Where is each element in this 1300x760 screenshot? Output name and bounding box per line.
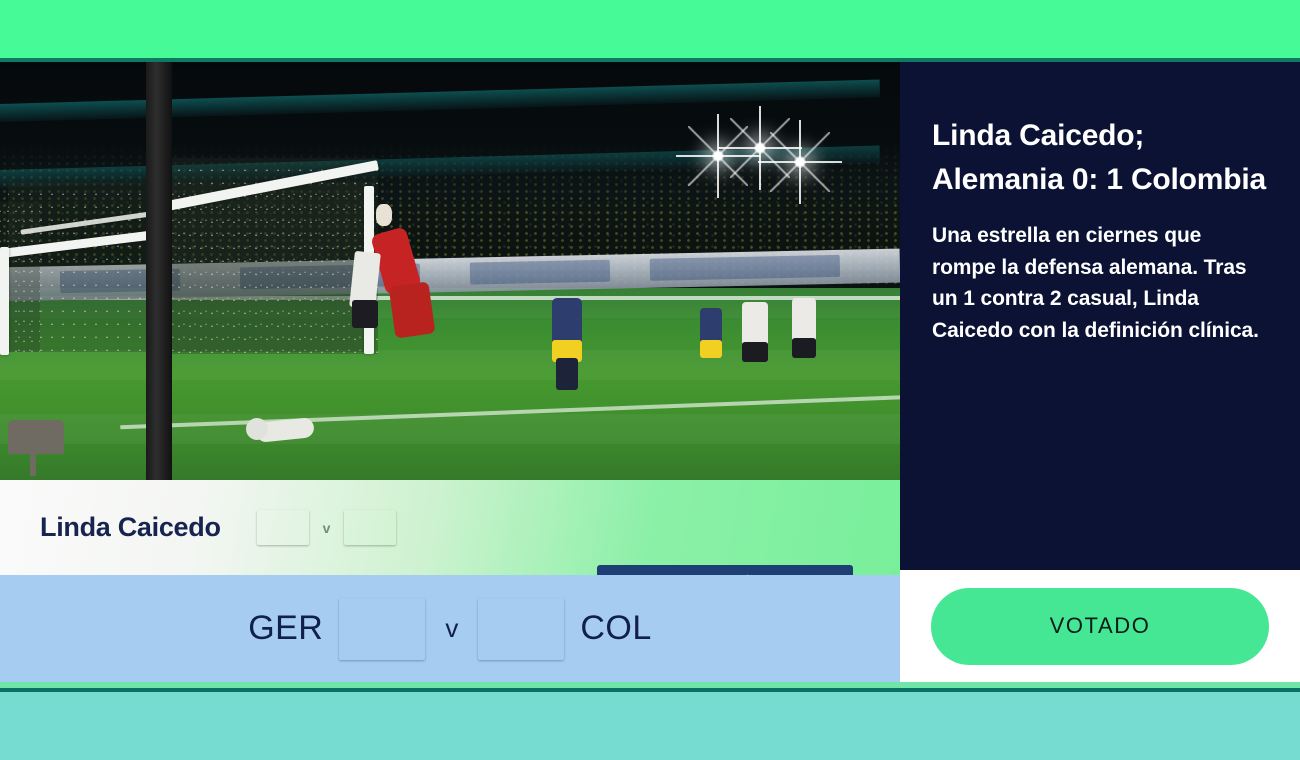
goal-description: Una estrella en ciernes que rompe la def…	[932, 220, 1268, 348]
player-keeper-legs	[389, 281, 436, 338]
colombia-flag	[478, 598, 564, 660]
poll-card-page: Linda Caicedo v	[0, 0, 1300, 760]
player-germany-a	[742, 302, 768, 346]
goal-stanchion	[0, 247, 9, 355]
video-still[interactable]	[0, 62, 900, 480]
match-bar: GER v COL	[0, 575, 900, 682]
vote-button[interactable]: VOTADO	[931, 588, 1269, 665]
highlight-card: Linda Caicedo v	[0, 62, 1300, 682]
caption-versus: v	[323, 520, 331, 536]
match-versus: v	[445, 613, 458, 644]
colombia-flag	[344, 510, 396, 545]
player-colombia-legs	[556, 358, 578, 390]
info-panel: Linda Caicedo; Alemania 0: 1 Colombia Un…	[900, 62, 1300, 570]
support-pole	[146, 62, 172, 480]
player-white-defender-shorts	[352, 300, 378, 328]
goal-title: Linda Caicedo; Alemania 0: 1 Colombia	[932, 114, 1268, 202]
camera-tripod	[30, 450, 36, 476]
loose-ball	[246, 418, 268, 440]
player-germany-b	[792, 298, 816, 342]
player-germany-a-shorts	[742, 342, 768, 362]
germany-flag	[339, 598, 425, 660]
germany-flag	[257, 510, 309, 545]
top-accent-band	[0, 0, 1300, 58]
player-colombia-far	[700, 308, 722, 344]
media-column: Linda Caicedo v	[0, 62, 900, 682]
pitchside-camera	[8, 420, 64, 454]
bottom-teal-band	[0, 692, 1300, 760]
caption-flags: v	[257, 510, 397, 545]
away-team-code: COL	[580, 609, 651, 648]
player-germany-b-shorts	[792, 338, 816, 358]
player-colombia-striker	[552, 298, 582, 346]
caption-player-name: Linda Caicedo	[40, 512, 221, 543]
caption-bar: Linda Caicedo v	[0, 480, 900, 575]
home-team-code: GER	[248, 609, 323, 648]
info-column: Linda Caicedo; Alemania 0: 1 Colombia Un…	[900, 62, 1300, 682]
keeper-glove	[376, 204, 392, 226]
vote-area: VOTADO	[900, 570, 1300, 682]
pitch-stripe	[0, 414, 900, 444]
player-colombia-far-shorts	[700, 340, 722, 358]
